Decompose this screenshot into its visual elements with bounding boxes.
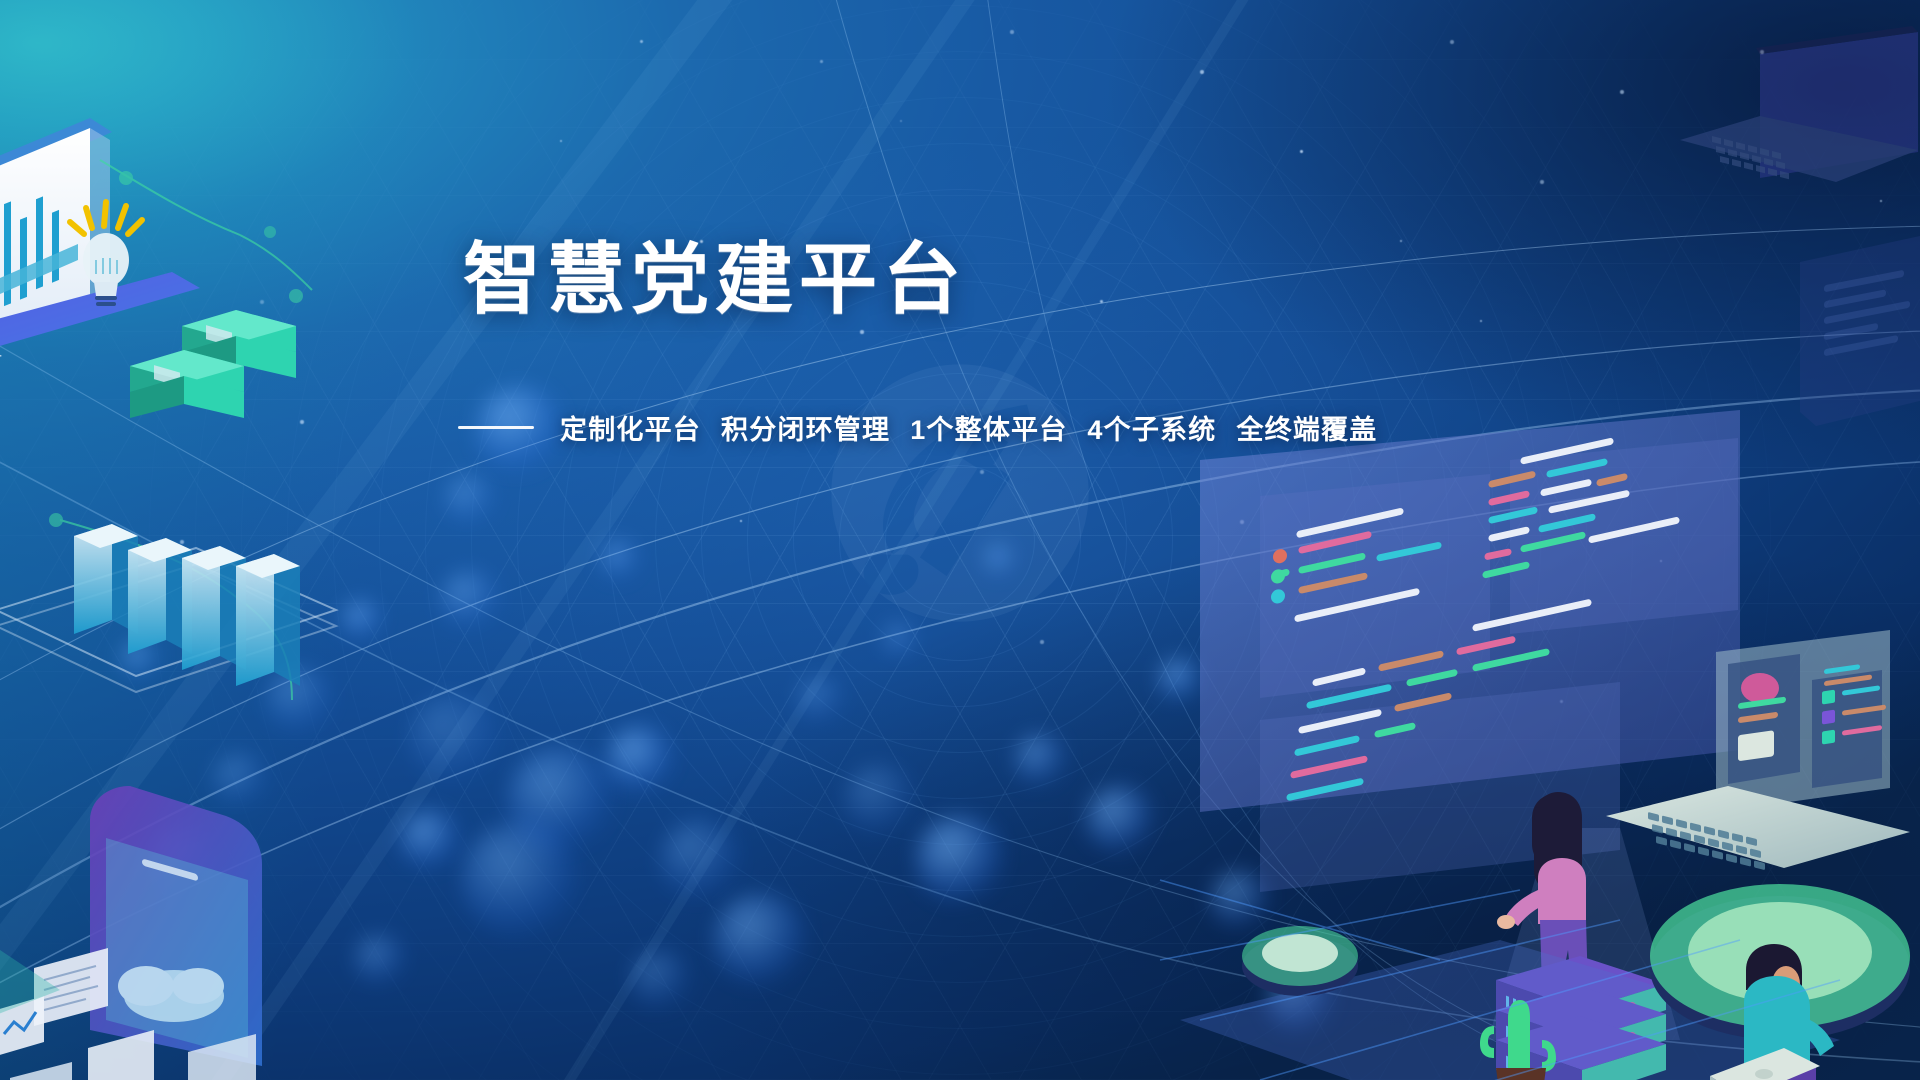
star-spark <box>1450 40 1454 44</box>
subtitle-item: 积分闭环管理 <box>721 415 890 445</box>
star-spark <box>1480 320 1482 322</box>
star-spark <box>860 330 864 334</box>
bokeh-circle <box>882 622 918 658</box>
subtitle-text: 定制化平台积分闭环管理1个整体平台4个子系统全终端覆盖 <box>560 408 1377 447</box>
right-isometric-illustration <box>1320 420 1920 1080</box>
star-spark <box>1200 70 1204 74</box>
bokeh-circle <box>508 748 612 852</box>
left-isometric-illustration <box>0 0 460 1080</box>
iso-smartphone-cloud <box>0 786 262 1080</box>
bokeh-circle <box>462 822 578 938</box>
hero-banner: 智慧党建平台 定制化平台积分闭环管理1个整体平台4个子系统全终端覆盖 <box>0 0 1920 1080</box>
iso-bar-blocks <box>0 524 336 692</box>
star-spark <box>740 520 742 522</box>
star-spark <box>1300 150 1303 153</box>
bokeh-circle <box>1086 786 1154 854</box>
star-spark <box>1540 180 1544 184</box>
star-spark <box>900 120 902 122</box>
bokeh-circle <box>630 950 690 1010</box>
bokeh-circle <box>600 540 640 580</box>
bokeh-circle <box>1158 658 1202 702</box>
subtitle-item: 定制化平台 <box>560 415 701 445</box>
bokeh-circle <box>796 676 844 724</box>
star-spark <box>820 60 823 63</box>
star-spark <box>1620 90 1624 94</box>
bokeh-circle <box>660 820 740 900</box>
subtitle-dash <box>458 426 534 429</box>
subtitle-block: 定制化平台积分闭环管理1个整体平台4个子系统全终端覆盖 <box>458 408 1377 447</box>
star-spark <box>560 140 562 142</box>
bokeh-circle <box>714 894 806 986</box>
cpc-emblem-watermark <box>826 359 1094 627</box>
subtitle-item: 4个子系统 <box>1087 415 1216 445</box>
subtitle-item: 全终端覆盖 <box>1236 415 1377 445</box>
subtitle-item: 1个整体平台 <box>910 415 1067 445</box>
star-spark <box>640 40 643 43</box>
star-spark <box>1040 640 1044 644</box>
bokeh-circle <box>606 726 674 794</box>
bokeh-circle <box>844 764 916 836</box>
network-switch-stack <box>130 310 296 418</box>
small-glow-pad <box>1242 926 1358 996</box>
headline-block: 智慧党建平台 <box>463 240 1563 320</box>
right-edge-dark-panel <box>1800 220 1920 440</box>
bokeh-circle <box>1014 734 1066 786</box>
page-title: 智慧党建平台 <box>463 240 1563 320</box>
star-spark <box>1010 30 1014 34</box>
bokeh-circle <box>916 816 1004 904</box>
